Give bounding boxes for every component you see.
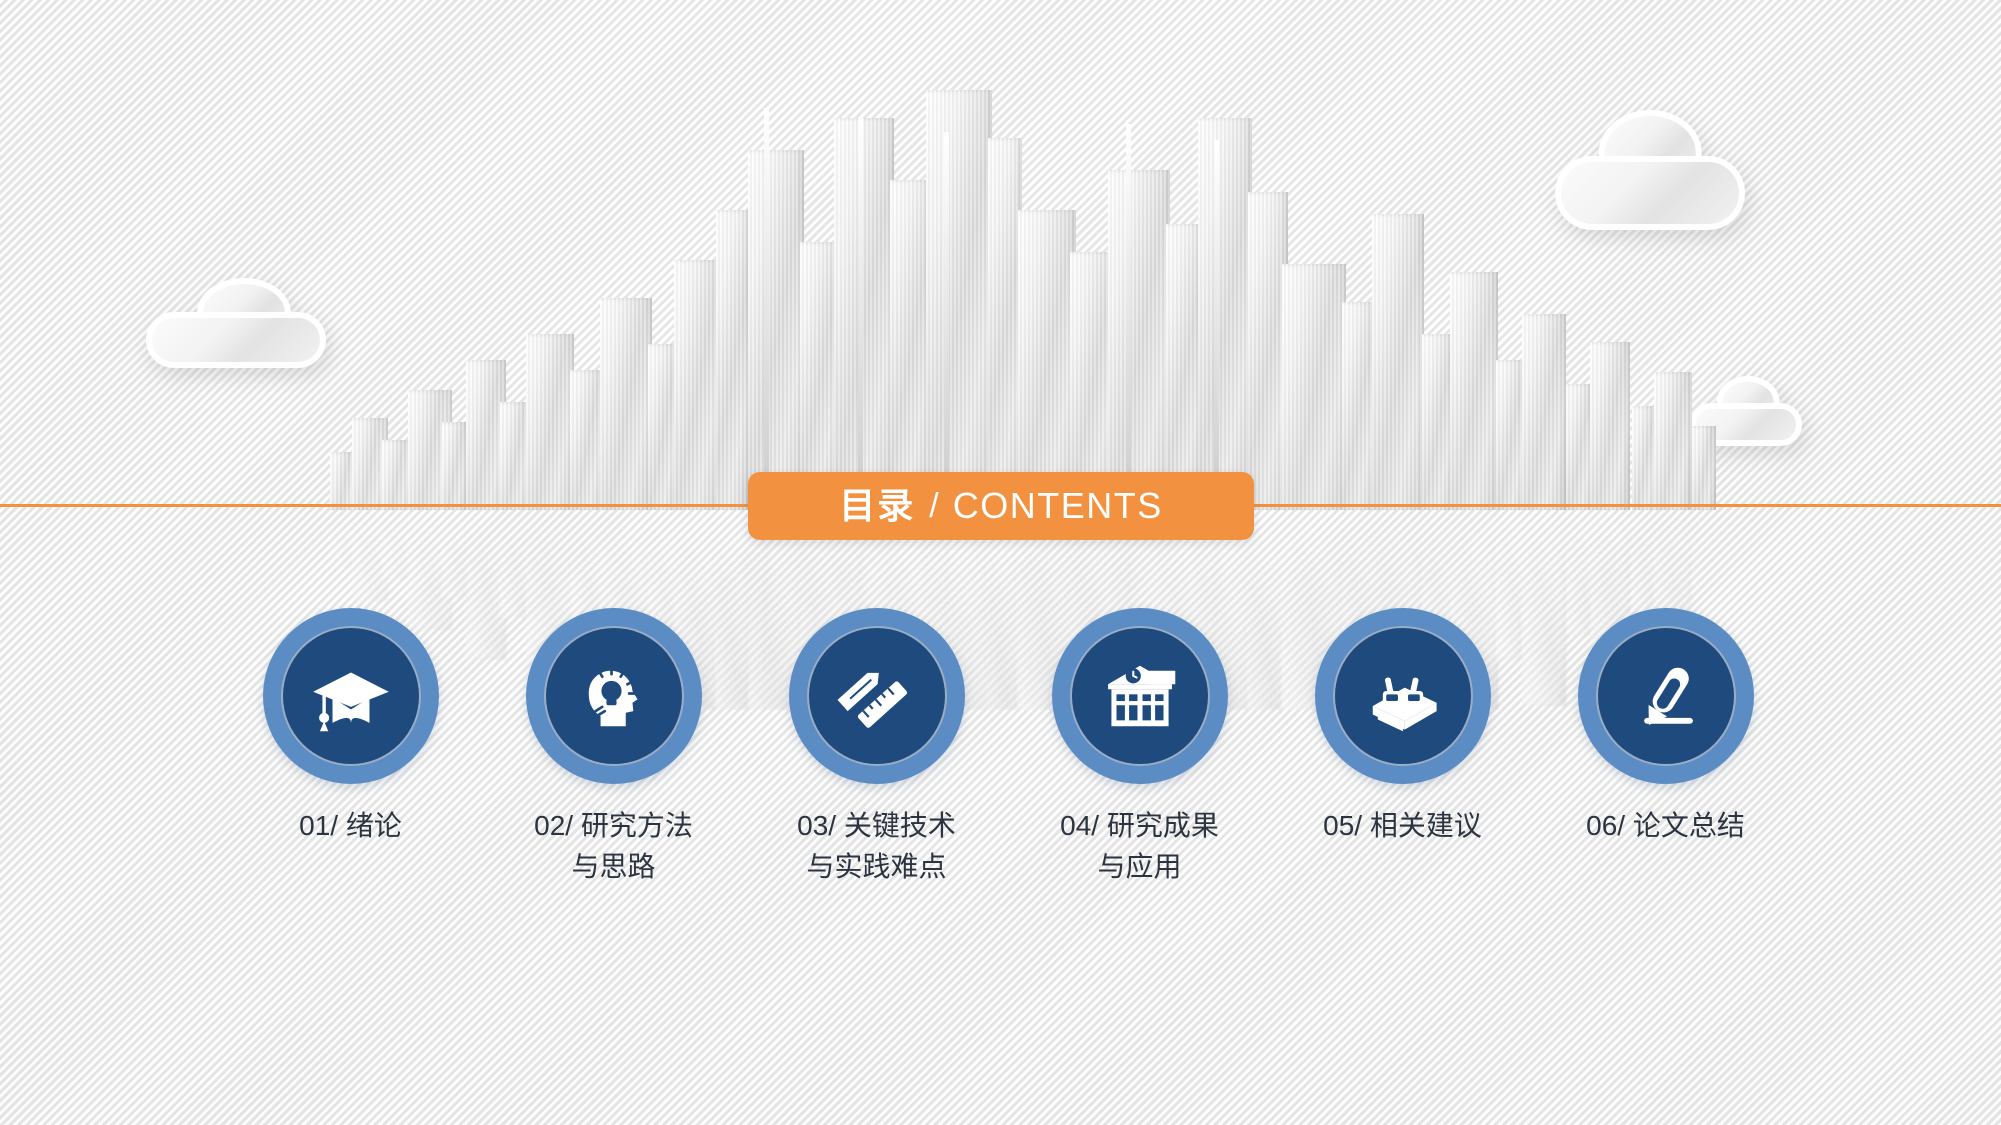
banner-title-en: CONTENTS — [953, 488, 1163, 524]
city-building — [442, 510, 468, 598]
graduation-cap-icon — [309, 654, 393, 738]
slide-canvas: 目录 / CONTENTS 01/ 绪论 — [0, 0, 2001, 1125]
city-building — [570, 370, 604, 510]
icon-disc — [1070, 626, 1210, 766]
city-building — [1372, 214, 1424, 510]
contents-item-caption: 02/ 研究方法 与思路 — [534, 806, 693, 887]
contents-item-01[interactable]: 01/ 绪论 — [258, 608, 443, 847]
city-spire — [1214, 140, 1219, 510]
city-building — [1282, 264, 1346, 510]
contents-item-05[interactable]: 05/ 相关建议 — [1310, 608, 1495, 847]
contents-item-03[interactable]: 03/ 关键技术 与实践难点 — [784, 608, 969, 887]
contents-item-caption: 06/ 论文总结 — [1586, 806, 1745, 847]
icon-ring[interactable] — [263, 608, 439, 784]
city-building — [1692, 426, 1716, 510]
cloud-left-icon — [146, 278, 326, 368]
pencil-writing-icon — [1624, 654, 1708, 738]
icon-disc — [281, 626, 421, 766]
city-building — [1590, 342, 1630, 510]
city-spire — [1126, 124, 1131, 510]
icon-disc — [1596, 626, 1736, 766]
city-building — [716, 210, 750, 510]
contents-item-02[interactable]: 02/ 研究方法 与思路 — [521, 608, 706, 887]
icon-ring[interactable] — [1052, 608, 1228, 784]
school-building-clock-icon — [1098, 654, 1182, 738]
contents-item-caption: 04/ 研究成果 与应用 — [1060, 806, 1219, 887]
city-spire — [858, 118, 863, 510]
city-building — [748, 150, 804, 510]
contents-item-caption: 01/ 绪论 — [299, 806, 402, 847]
city-building — [890, 180, 930, 510]
city-building — [1198, 118, 1252, 510]
contents-title-banner: 目录 / CONTENTS — [748, 472, 1254, 540]
city-building — [1522, 314, 1566, 510]
contents-item-04[interactable]: 04/ 研究成果 与应用 — [1047, 608, 1232, 887]
cloud-body — [146, 312, 326, 368]
contents-item-06[interactable]: 06/ 论文总结 — [1573, 608, 1758, 847]
icon-disc — [1333, 626, 1473, 766]
city-building — [926, 90, 992, 510]
icon-ring[interactable] — [789, 608, 965, 784]
city-building — [800, 242, 838, 510]
city-building — [1342, 302, 1376, 510]
city-building — [1166, 224, 1202, 510]
city-building — [442, 422, 468, 510]
city-building — [1692, 510, 1700, 594]
icon-ring[interactable] — [1315, 608, 1491, 784]
city-building — [600, 298, 652, 510]
head-lightbulb-icon — [572, 654, 656, 738]
city-building — [1108, 170, 1170, 510]
banner-title-cn: 目录 — [839, 488, 915, 524]
icon-ring[interactable] — [1578, 608, 1754, 784]
city-building — [674, 260, 720, 510]
city-spire — [944, 132, 949, 510]
city-building — [1018, 210, 1076, 510]
contents-item-caption: 03/ 关键技术 与实践难点 — [797, 806, 956, 887]
contents-item-caption: 05/ 相关建议 — [1323, 806, 1482, 847]
books-glasses-icon — [1361, 654, 1445, 738]
pencil-ruler-icon — [835, 654, 919, 738]
city-building — [1654, 372, 1692, 510]
icon-disc — [807, 626, 947, 766]
icon-ring[interactable] — [526, 608, 702, 784]
city-buildings — [330, 60, 1700, 510]
banner-separator: / — [929, 489, 938, 523]
city-building — [834, 118, 894, 510]
city-building — [988, 138, 1022, 510]
city-building — [1450, 272, 1498, 510]
contents-item-row: 01/ 绪论 — [258, 608, 1758, 887]
city-spire — [764, 108, 769, 510]
icon-disc — [544, 626, 684, 766]
city-skyline-illustration — [330, 60, 1700, 510]
city-building — [526, 334, 574, 510]
